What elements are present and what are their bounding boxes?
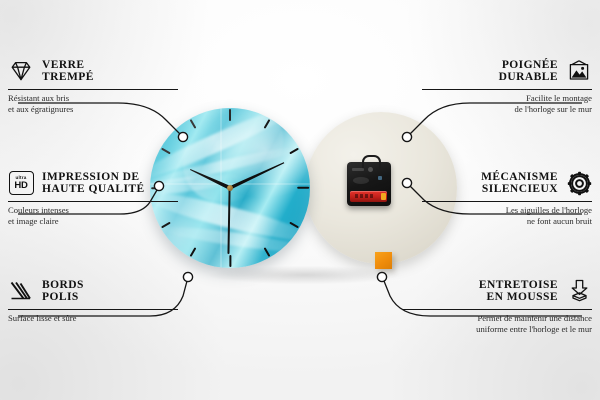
feature-description: Couleurs intenses (8, 205, 178, 215)
battery-terminal (381, 193, 386, 200)
clock-center-cap (227, 185, 233, 191)
feature-description: Les aiguilles de l'horloge (422, 205, 592, 215)
feature-divider (8, 89, 178, 90)
product-infographic: VERRE TREMPÉ Résistant aux bris et aux é… (0, 0, 600, 400)
foam-layer-arrow-icon (566, 278, 592, 304)
quartz-mechanism (347, 162, 391, 206)
feature-bords-polis: BORDS POLIS Surface lisse et sûre (8, 276, 178, 324)
ultra-hd-badge-icon: ultra HD (8, 170, 34, 196)
feature-description: et aux égratignures (8, 104, 178, 114)
feature-title: IMPRESSION DE HAUTE QUALITÉ (42, 171, 145, 196)
dial-seam (220, 108, 222, 268)
hd-badge-main-label: HD (14, 181, 27, 191)
feature-divider (8, 309, 178, 310)
feature-title: ENTRETOISE EN MOUSSE (479, 279, 558, 304)
feature-description: Permet de maintenir une distance (402, 313, 592, 323)
feature-title: VERRE TREMPÉ (42, 59, 94, 84)
feature-divider (402, 309, 592, 310)
mechanism-detail (378, 176, 382, 180)
feature-title: BORDS POLIS (42, 279, 84, 304)
mechanism-detail (352, 168, 364, 171)
picture-frame-icon (566, 58, 592, 84)
feature-description: Surface lisse et sûre (8, 313, 178, 323)
clock-tick-minor (190, 247, 197, 257)
feature-poignee-durable: POIGNÉE DURABLE Facilite le montage de l… (422, 56, 592, 114)
feature-description: et image claire (8, 216, 178, 226)
mechanism-detail (368, 167, 373, 172)
mechanism-detail (353, 177, 369, 184)
feature-header: POIGNÉE DURABLE (422, 56, 592, 86)
connector-endpoint-entretoise-mousse (377, 272, 386, 281)
feature-description: ne font aucun bruit (422, 216, 592, 226)
feature-verre-trempe: VERRE TREMPÉ Résistant aux bris et aux é… (8, 56, 178, 114)
feature-divider (422, 201, 592, 202)
connector-endpoint-bords-polis (183, 272, 192, 281)
feature-description: de l'horloge sur le mur (422, 104, 592, 114)
feature-title: POIGNÉE DURABLE (499, 59, 558, 84)
aa-battery (350, 191, 387, 202)
foam-spacer (375, 252, 392, 269)
clock-tick-major (229, 255, 231, 267)
feature-divider (8, 201, 178, 202)
feature-header: ENTRETOISE EN MOUSSE (402, 276, 592, 306)
product-shadow (170, 262, 440, 288)
feature-header: MÉCANISME SILENCIEUX (422, 168, 592, 198)
polished-edge-icon (8, 278, 34, 304)
diamond-icon (8, 58, 34, 84)
feature-header: ultra HD IMPRESSION DE HAUTE QUALITÉ (8, 168, 178, 198)
clock-tick-minor (161, 148, 171, 155)
feature-divider (422, 89, 592, 90)
feature-entretoise-mousse: ENTRETOISE EN MOUSSE Permet de maintenir… (402, 276, 592, 334)
feature-description: Facilite le montage (422, 93, 592, 103)
clock-tick-major (297, 187, 309, 189)
battery-label (355, 194, 375, 198)
feature-title: MÉCANISME SILENCIEUX (481, 171, 558, 196)
gear-icon (566, 170, 592, 196)
feature-description: Résistant aux bris (8, 93, 178, 103)
feature-header: BORDS POLIS (8, 276, 178, 306)
feature-impression-hd: ultra HD IMPRESSION DE HAUTE QUALITÉ Cou… (8, 168, 178, 226)
feature-mecanisme-silencieux: MÉCANISME SILENCIEUX Les aiguilles de l'… (422, 168, 592, 226)
feature-header: VERRE TREMPÉ (8, 56, 178, 86)
feature-description: uniforme entre l'horloge et le mur (402, 324, 592, 334)
